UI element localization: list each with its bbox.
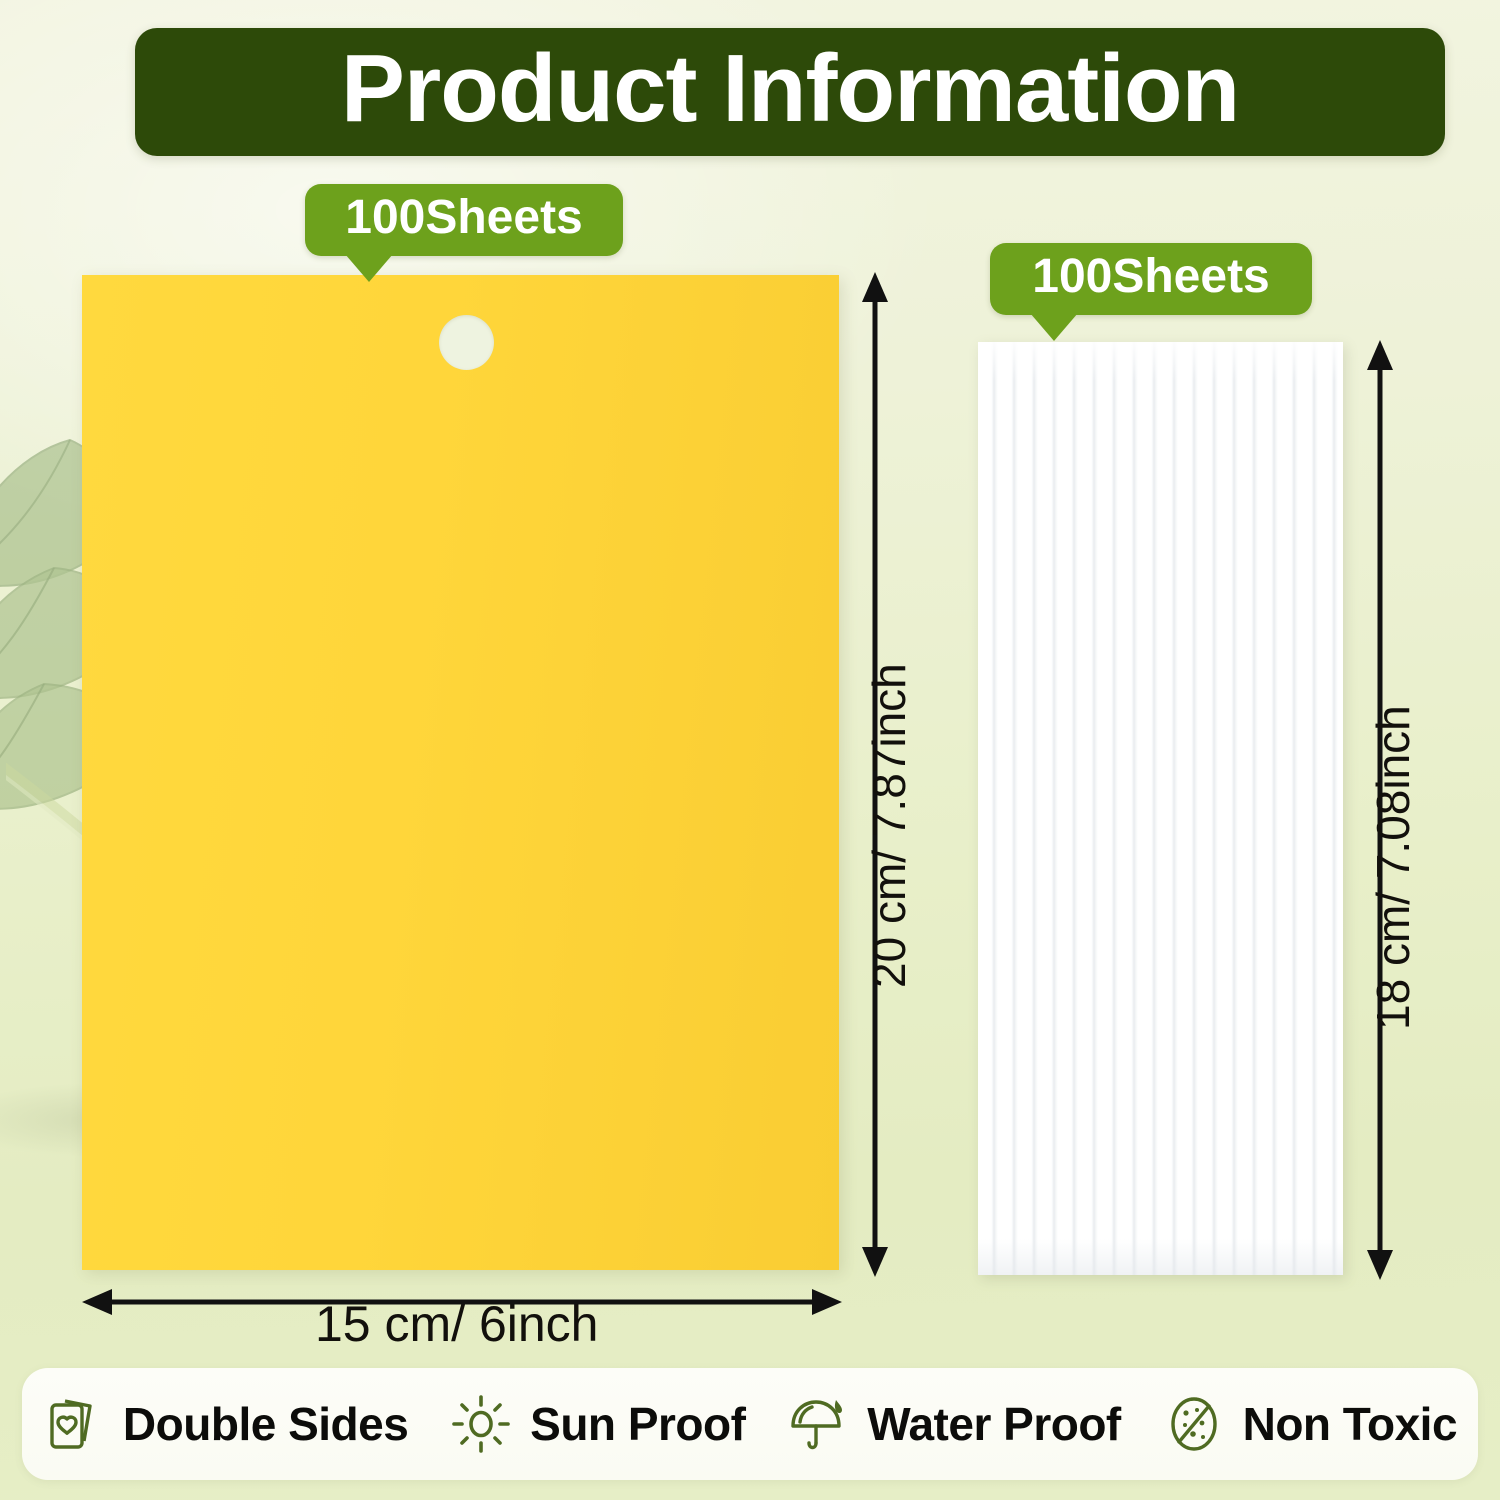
sheets-badge-label: 100Sheets: [1032, 253, 1270, 301]
sheets-badge-stakes: 100Sheets: [990, 243, 1312, 315]
yellow-sticky-trap-card: [82, 275, 839, 1270]
feature-sun-proof: Sun Proof: [450, 1393, 745, 1455]
stakes-bottom-shade: [978, 1239, 1343, 1275]
badge-pointer: [345, 254, 393, 282]
feature-label: Double Sides: [123, 1397, 408, 1451]
feature-double-sides: Double Sides: [43, 1393, 408, 1455]
white-plastic-stakes-stack: [978, 342, 1343, 1275]
feature-non-toxic: Non Toxic: [1163, 1393, 1457, 1455]
feature-water-proof: Water Proof: [787, 1393, 1120, 1455]
sheets-badge-label: 100Sheets: [345, 194, 583, 242]
stakes-top-highlight: [978, 342, 1343, 382]
hanging-hole: [439, 315, 494, 370]
card-height-label: 20 cm/ 7.87inch: [862, 568, 916, 988]
stakes-height-label: 18 cm/ 7.08inch: [1366, 610, 1420, 1030]
page-title: Product Information: [341, 41, 1239, 137]
umbrella-droplet-icon: [787, 1393, 849, 1455]
product-information-infographic: Product Information 100Sheets 100Sheets …: [0, 0, 1500, 1500]
sun-icon: [450, 1393, 512, 1455]
no-toxic-crossed-circle-icon: [1163, 1393, 1225, 1455]
double-cards-heart-icon: [43, 1393, 105, 1455]
card-width-label: 15 cm/ 6inch: [315, 1295, 598, 1353]
sheets-badge-yellow-card: 100Sheets: [305, 184, 623, 256]
feature-label: Non Toxic: [1243, 1397, 1457, 1451]
page-title-banner: Product Information: [135, 28, 1445, 156]
feature-label: Sun Proof: [530, 1397, 745, 1451]
feature-label: Water Proof: [867, 1397, 1120, 1451]
feature-strip: Double Sides: [22, 1368, 1478, 1480]
badge-pointer: [1030, 313, 1078, 341]
